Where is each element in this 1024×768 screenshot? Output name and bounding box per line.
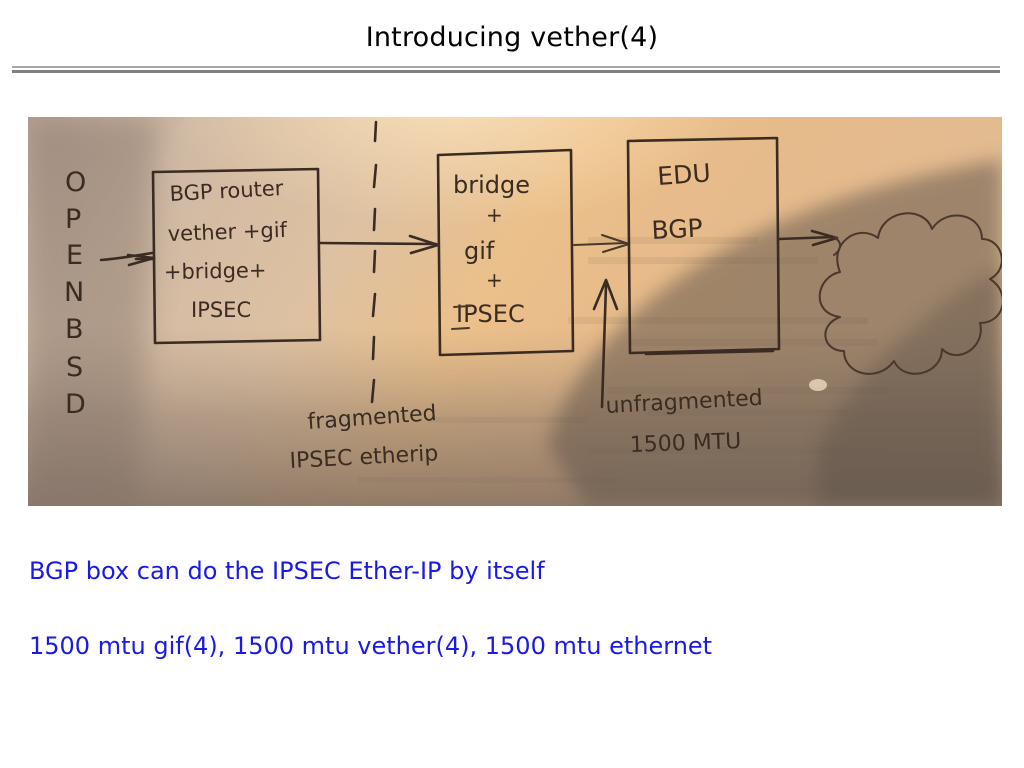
svg-text:EDU: EDU <box>656 158 711 191</box>
body-text-line-2: 1500 mtu gif(4), 1500 mtu vether(4), 150… <box>29 632 712 660</box>
svg-text:IPSEC: IPSEC <box>456 300 525 328</box>
svg-text:1500 MTU: 1500 MTU <box>629 429 741 458</box>
diagram-drawing: .ink { fill:none; stroke:#3a2c22; stroke… <box>28 117 1002 506</box>
svg-text:N: N <box>64 277 84 308</box>
svg-text:bridge: bridge <box>453 171 530 199</box>
svg-text:BGP: BGP <box>651 213 704 245</box>
network-diagram-photo: .ink { fill:none; stroke:#3a2c22; stroke… <box>28 117 1002 506</box>
divider-line-bottom <box>12 70 1000 73</box>
title-divider <box>12 66 1000 73</box>
svg-text:O: O <box>65 167 86 198</box>
svg-text:gif: gif <box>464 237 495 265</box>
page-title: Introducing vether(4) <box>0 22 1024 53</box>
svg-text:+bridge+: +bridge+ <box>164 258 267 284</box>
svg-text:IPSEC: IPSEC <box>191 298 251 322</box>
svg-text:vether +gif: vether +gif <box>167 218 288 246</box>
svg-text:+: + <box>486 203 503 227</box>
body-text-line-1: BGP box can do the IPSEC Ether-IP by its… <box>29 557 545 585</box>
svg-text:P: P <box>65 204 81 235</box>
svg-text:S: S <box>66 352 83 383</box>
svg-text:D: D <box>65 389 86 420</box>
svg-text:+: + <box>486 268 503 292</box>
svg-text:B: B <box>65 314 84 345</box>
svg-text:E: E <box>66 240 83 271</box>
